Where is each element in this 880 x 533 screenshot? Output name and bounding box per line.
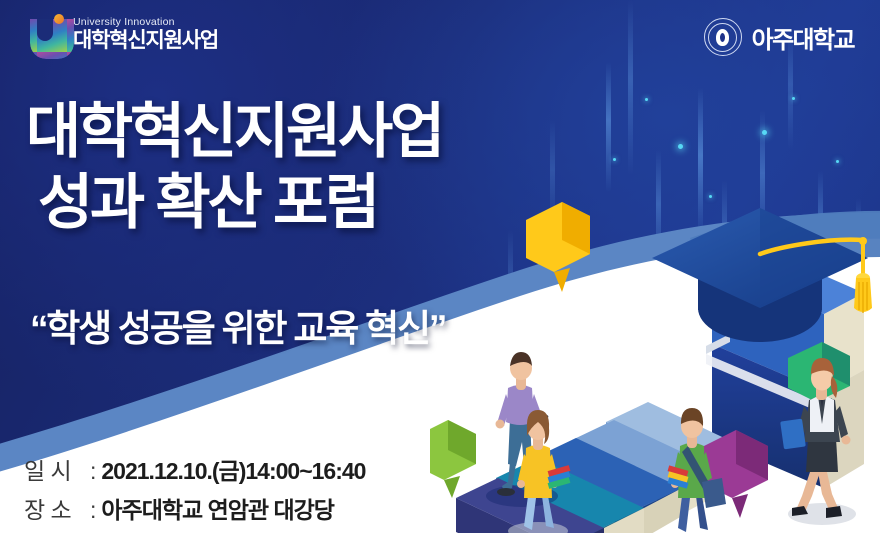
info-label-location: 장 소 (24, 491, 90, 525)
info-value-location: 아주대학교 연암관 대강당 (101, 491, 334, 525)
page-title: 대학혁신지원사업 성과 확산 포럼 (26, 96, 442, 239)
isometric-illustration (430, 196, 880, 533)
info-separator-datetime: : (90, 458, 96, 485)
info-value-datetime: 2021.12.10.(금)14:00~16:40 (101, 452, 365, 486)
title-line-1: 대학혁신지원사업 (26, 96, 442, 167)
university-innovation-u-mark-icon (30, 14, 64, 54)
logo-english-label: University Innovation (73, 17, 218, 28)
ajou-university-seal-icon (704, 18, 742, 56)
university-innovation-logo: University Innovation 대학혁신지원사업 (30, 14, 218, 54)
ajou-university-label: 아주대학교 (752, 20, 854, 55)
event-info: 일 시 : 2021.12.10.(금)14:00~16:40 장 소 : 아주… (24, 452, 365, 530)
ajou-university-logo: 아주대학교 (704, 18, 854, 56)
info-row-datetime: 일 시 : 2021.12.10.(금)14:00~16:40 (24, 452, 365, 486)
event-poster: University Innovation 대학혁신지원사업 아주대학교 대학혁… (0, 0, 880, 533)
speech-bubble-green (430, 420, 476, 498)
info-row-location: 장 소 : 아주대학교 연암관 대강당 (24, 491, 365, 525)
speech-bubble-yellow (526, 202, 590, 292)
title-line-2: 성과 확산 포럼 (26, 167, 442, 238)
logo-korean-label: 대학혁신지원사업 (73, 30, 218, 51)
info-separator-location: : (90, 497, 96, 524)
info-label-datetime: 일 시 (24, 452, 90, 486)
page-subtitle: “학생 성공을 위한 교육 혁신” (30, 298, 445, 352)
